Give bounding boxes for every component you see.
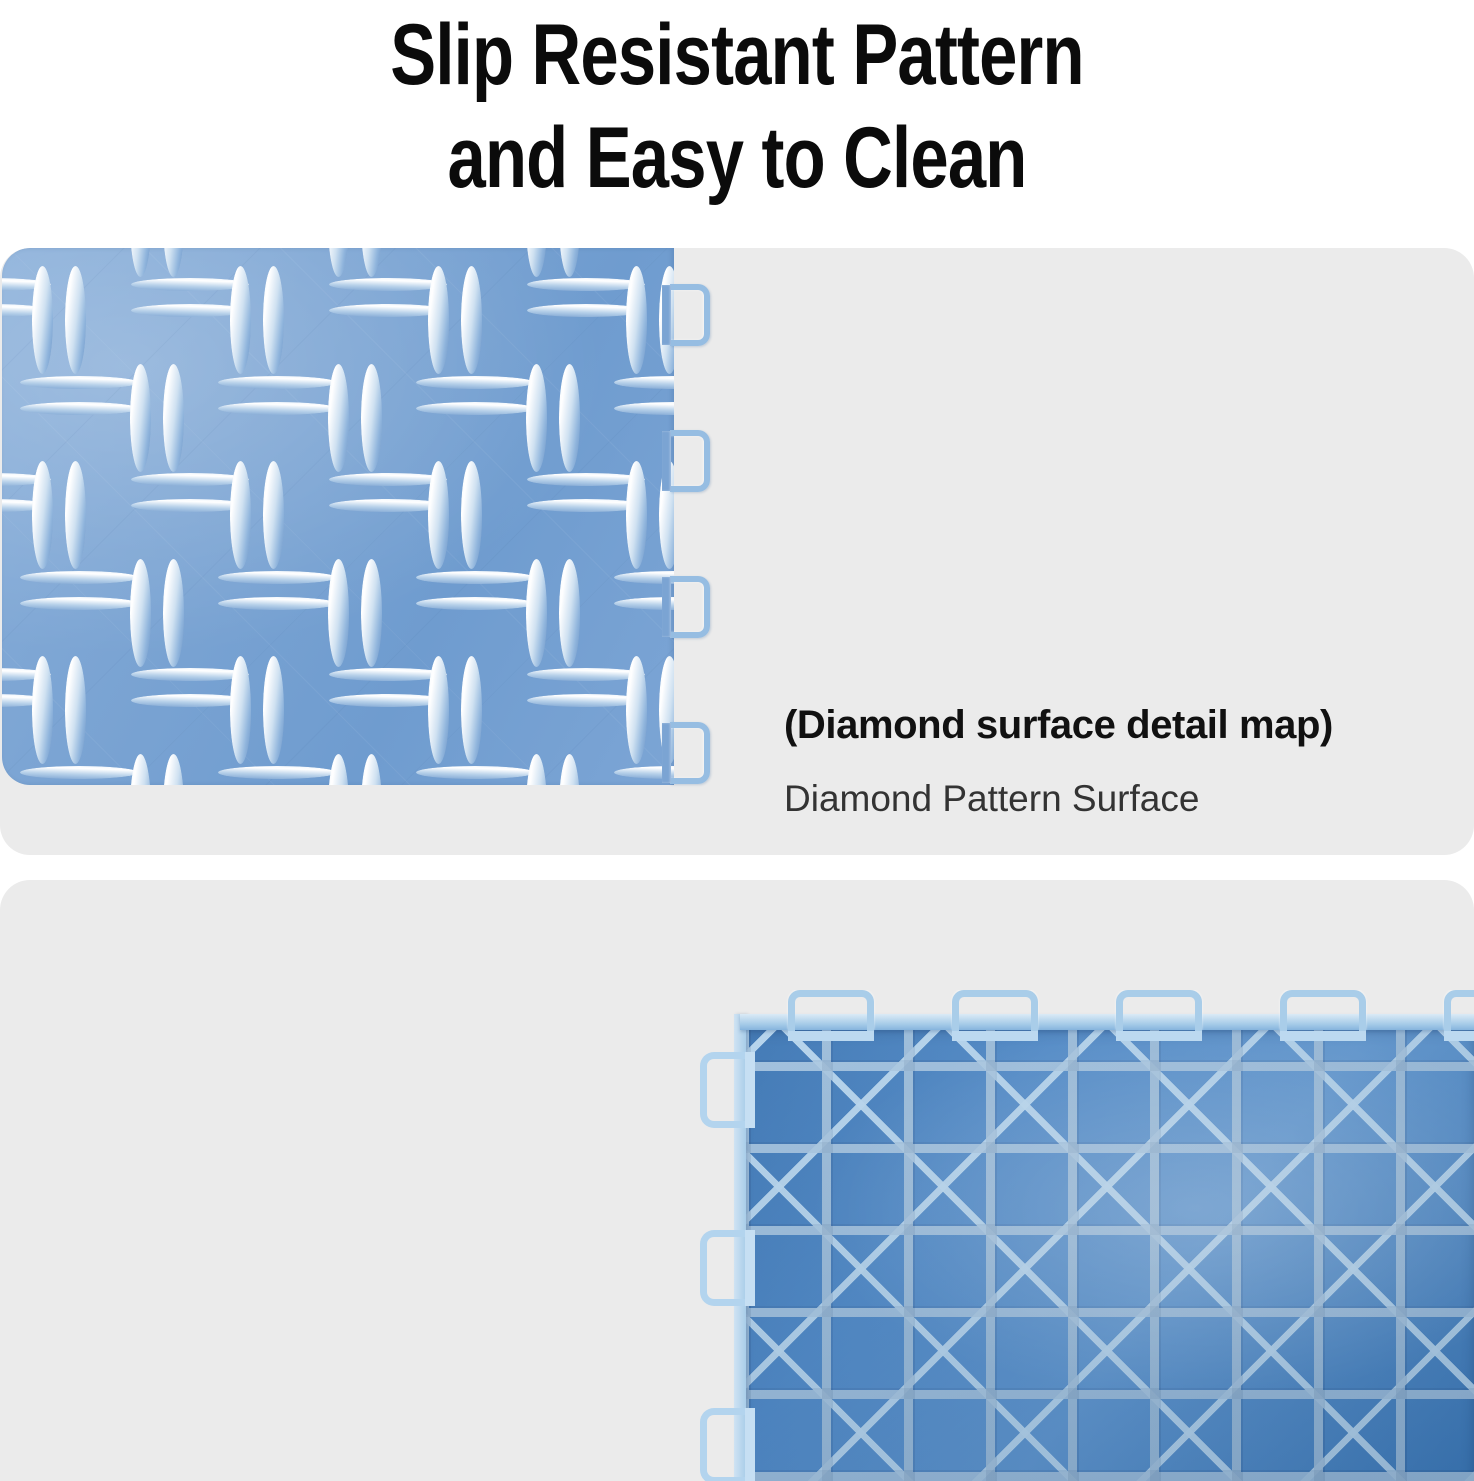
diamond-stud-vertical — [230, 461, 251, 569]
tile-underside-grid-photo — [700, 990, 1474, 1481]
diamond-stud-horizontal — [218, 376, 336, 389]
interlock-tab — [670, 722, 710, 784]
diamond-stud-vertical — [263, 461, 284, 569]
diamond-stud-vertical — [328, 364, 349, 472]
interlock-tab — [788, 990, 874, 1031]
diamond-stud-vertical — [32, 266, 53, 374]
diamond-stud-vertical — [361, 364, 382, 472]
grid-pocket-shadows — [740, 1026, 1474, 1481]
diamond-stud-horizontal — [527, 473, 645, 486]
diamond-stud-vertical — [461, 461, 482, 569]
diamond-stud-vertical — [526, 364, 547, 472]
diamond-stud-vertical — [328, 559, 349, 667]
diamond-stud-vertical — [130, 364, 151, 472]
interlock-tab — [700, 1408, 745, 1481]
caption-diamond-surface: (Diamond surface detail map) Diamond Pat… — [784, 703, 1424, 824]
diamond-stud-horizontal — [218, 571, 336, 584]
feature-panel-diamond-surface: (Diamond surface detail map) Diamond Pat… — [0, 248, 1474, 855]
diamond-stud-horizontal — [218, 402, 336, 415]
interlock-tab — [1444, 990, 1474, 1031]
diamond-stud-vertical — [626, 461, 647, 569]
caption-title: (Diamond surface detail map) — [784, 703, 1424, 748]
interlock-tab — [670, 430, 710, 492]
diamond-stud-vertical — [626, 266, 647, 374]
diamond-stud-vertical — [428, 461, 449, 569]
diamond-stud-horizontal — [416, 376, 534, 389]
page-title-line-1: Slip Resistant Pattern — [147, 4, 1326, 107]
diamond-stud-horizontal — [416, 597, 534, 610]
diamond-stud-vertical — [428, 656, 449, 764]
diamond-stud-horizontal — [20, 402, 138, 415]
page-title-line-2: and Easy to Clean — [147, 107, 1326, 210]
interlock-tab — [1280, 990, 1366, 1031]
diamond-stud-vertical — [461, 656, 482, 764]
diamond-stud-vertical — [526, 559, 547, 667]
diamond-stud-vertical — [230, 266, 251, 374]
diamond-stud-horizontal — [20, 571, 138, 584]
diamond-stud-horizontal — [20, 766, 138, 779]
interlock-tab — [700, 1230, 745, 1306]
diamond-stud-horizontal — [20, 597, 138, 610]
diamond-stud-horizontal — [329, 278, 447, 291]
diamond-stud-vertical — [428, 266, 449, 374]
diamond-stud-horizontal — [329, 473, 447, 486]
page-title: Slip Resistant Pattern and Easy to Clean — [147, 4, 1326, 210]
diamond-stud-horizontal — [218, 597, 336, 610]
interlock-tab — [952, 990, 1038, 1031]
diamond-stud-vertical — [65, 656, 86, 764]
diamond-stud-horizontal — [416, 571, 534, 584]
diamond-stud-horizontal — [131, 278, 249, 291]
diamond-stud-vertical — [559, 364, 580, 472]
diamond-stud-horizontal — [218, 766, 336, 779]
diamond-stud-vertical — [163, 559, 184, 667]
diamond-stud-vertical — [626, 656, 647, 764]
diamond-stud-vertical — [559, 559, 580, 667]
diamond-stud-horizontal — [131, 668, 249, 681]
diamond-stud-vertical — [230, 656, 251, 764]
diamond-stud-vertical — [32, 461, 53, 569]
tile-underside-slab — [740, 1026, 1474, 1481]
diamond-stud-vertical — [65, 266, 86, 374]
diamond-stud-vertical — [461, 266, 482, 374]
diamond-stud-vertical — [263, 656, 284, 764]
tile-surface-plate — [2, 248, 674, 785]
interlock-tab — [670, 576, 710, 638]
diamond-stud-horizontal — [20, 376, 138, 389]
diamond-stud-horizontal — [131, 473, 249, 486]
diamond-stud-horizontal — [416, 766, 534, 779]
diamond-stud-horizontal — [416, 402, 534, 415]
feature-panel-bottom-grid: (Bottom diamond detail) Bottom Diamond G… — [0, 880, 1474, 1481]
diamond-stud-vertical — [361, 559, 382, 667]
interlock-tab — [1116, 990, 1202, 1031]
diamond-stud-horizontal — [329, 668, 447, 681]
interlock-tab — [700, 1052, 745, 1128]
interlock-tab — [670, 284, 710, 346]
diamond-stud-vertical — [263, 266, 284, 374]
diamond-stud-vertical — [163, 364, 184, 472]
diamond-stud-vertical — [130, 559, 151, 667]
diamond-stud-vertical — [65, 461, 86, 569]
diamond-plate-tile-surface-photo — [2, 248, 712, 785]
caption-body: Diamond Pattern Surface — [784, 774, 1424, 824]
diamond-stud-horizontal — [527, 278, 645, 291]
diamond-stud-horizontal — [527, 668, 645, 681]
diamond-stud-vertical — [32, 656, 53, 764]
